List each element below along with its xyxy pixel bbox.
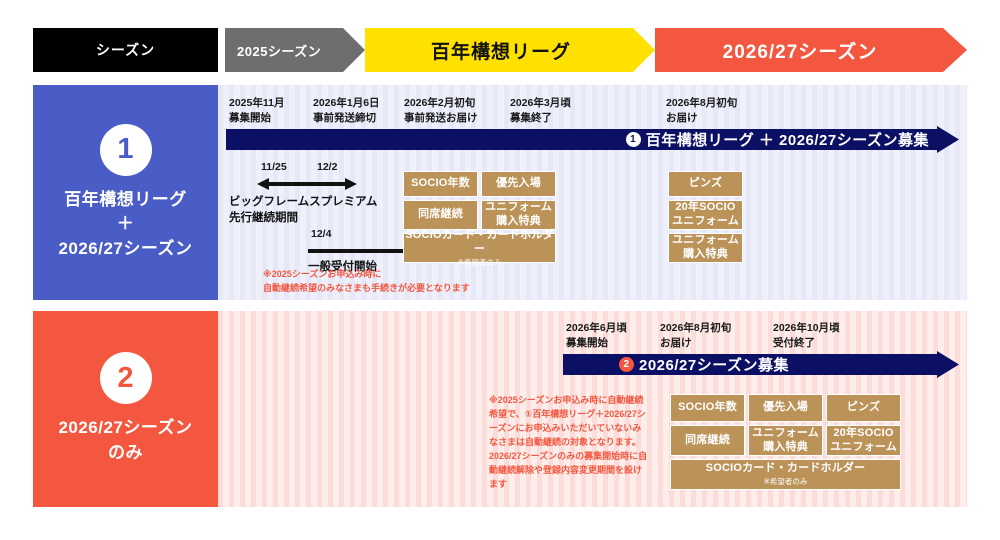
header-bar: シーズン 2025シーズン 百年構想リーグ 2026/27シーズン [33, 28, 967, 72]
plan-1-timeline-panel: 2025年11月募集開始 2026年1月6日事前発送締切 2026年2月初旬事前… [218, 85, 967, 300]
plan-2-benefit-seat-continuation: 同席継続 [670, 425, 745, 456]
plan-1-benefit-seat-continuation: 同席継続 [403, 200, 478, 230]
plan-1-title: 百年構想リーグ＋2026/27シーズン [58, 188, 192, 262]
plan-1-benefit-20y-uniform: 20年SOCIOユニフォーム [668, 200, 743, 230]
plan-row-2: 2 2026/27シーズンのみ 2026年6月頃募集開始 2026年8月初旬お届… [33, 311, 967, 507]
plan-2-note: ※2025シーズンお申込み時に自動継続希望で、①百年構想リーグ＋2026/27シ… [489, 394, 649, 492]
premium-period-text: ビッグフレームスプレミアム先行継続期間 [229, 194, 377, 226]
double-arrow-icon [257, 176, 397, 192]
plan-1-note: ※2025シーズンお申込み時に自動継続希望のみなさまも手続きが必要となります [263, 268, 470, 296]
plan-2-benefit-20y-uniform: 20年SOCIOユニフォーム [826, 425, 901, 456]
plan-1-benefit-socio-card: SOCIOカード・カードホルダー ※希望者のみ [403, 233, 556, 263]
premium-end-label: 12/2 [317, 161, 337, 173]
plan-1-main-arrow: 1 百年構想リーグ ＋ 2026/27シーズン募集 [226, 126, 959, 153]
plan-1-date-caption-5: 2026年8月初旬お届け [666, 96, 737, 126]
plan-1-arrow-badge-icon: 1 [626, 132, 641, 147]
plan-1-benefit-uniform-purchase-2: ユニフォーム購入特典 [668, 233, 743, 263]
plan-1-date-caption-4: 2026年3月頃募集終了 [510, 96, 571, 126]
plan-1-date-caption-2: 2026年1月6日事前発送締切 [313, 96, 380, 126]
premium-start-label: 11/25 [261, 161, 287, 173]
plan-2-date-caption-3: 2026年10月頃受付終了 [773, 321, 840, 351]
plan-2-title: 2026/27シーズンのみ [58, 416, 192, 465]
plan-2-number-badge: 2 [100, 352, 152, 404]
plan-2-benefit-socio-card: SOCIOカード・カードホルダー ※希望者のみ [670, 459, 901, 490]
plan-2-date-caption-2: 2026年8月初旬お届け [660, 321, 731, 351]
plan-1-date-caption-3: 2026年2月初旬事前発送お届け [404, 96, 478, 126]
plan-1-benefit-priority-entry: 優先入場 [481, 171, 556, 197]
timeline-diagram: シーズン 2025シーズン 百年構想リーグ 2026/27シーズン 1 百年構想… [0, 0, 1000, 540]
plan-1-arrow-label: 百年構想リーグ ＋ 2026/27シーズン募集 [646, 129, 929, 150]
plan-1-benefit-uniform-purchase: ユニフォーム購入特典 [481, 200, 556, 230]
header-segment-hyakunen-league: 百年構想リーグ [365, 28, 655, 72]
plan-2-arrow-label: 2026/27シーズン募集 [639, 354, 789, 375]
header-season-label: シーズン [33, 28, 218, 72]
header-segment-2025-season: 2025シーズン [225, 28, 365, 72]
plan-2-date-caption-1: 2026年6月頃募集開始 [566, 321, 627, 351]
plan-2-benefit-uniform-purchase: ユニフォーム購入特典 [748, 425, 823, 456]
plan-2-benefit-priority-entry: 優先入場 [748, 394, 823, 422]
plan-row-1: 1 百年構想リーグ＋2026/27シーズン 2025年11月募集開始 2026年… [33, 85, 967, 300]
plan-1-number-badge: 1 [100, 124, 152, 176]
plan-2-timeline-panel: 2026年6月頃募集開始 2026年8月初旬お届け 2026年10月頃受付終了 … [218, 311, 967, 507]
header-segment-2026-27-season: 2026/27シーズン [655, 28, 967, 72]
plan-1-benefit-socio-years: SOCIO年数 [403, 171, 478, 197]
plan-1-benefit-pins: ピンズ [668, 171, 743, 197]
plan-2-benefit-socio-years: SOCIO年数 [670, 394, 745, 422]
plan-2-sidebar: 2 2026/27シーズンのみ [33, 311, 218, 507]
plan-2-benefit-pins: ピンズ [826, 394, 901, 422]
plan-1-date-caption-1: 2025年11月募集開始 [229, 96, 284, 126]
plan-2-arrow-badge-icon: 2 [619, 357, 634, 372]
general-start-label: 12/4 [311, 228, 331, 240]
plan-2-main-arrow: 2 2026/27シーズン募集 [563, 351, 959, 378]
plan-1-sidebar: 1 百年構想リーグ＋2026/27シーズン [33, 85, 218, 300]
